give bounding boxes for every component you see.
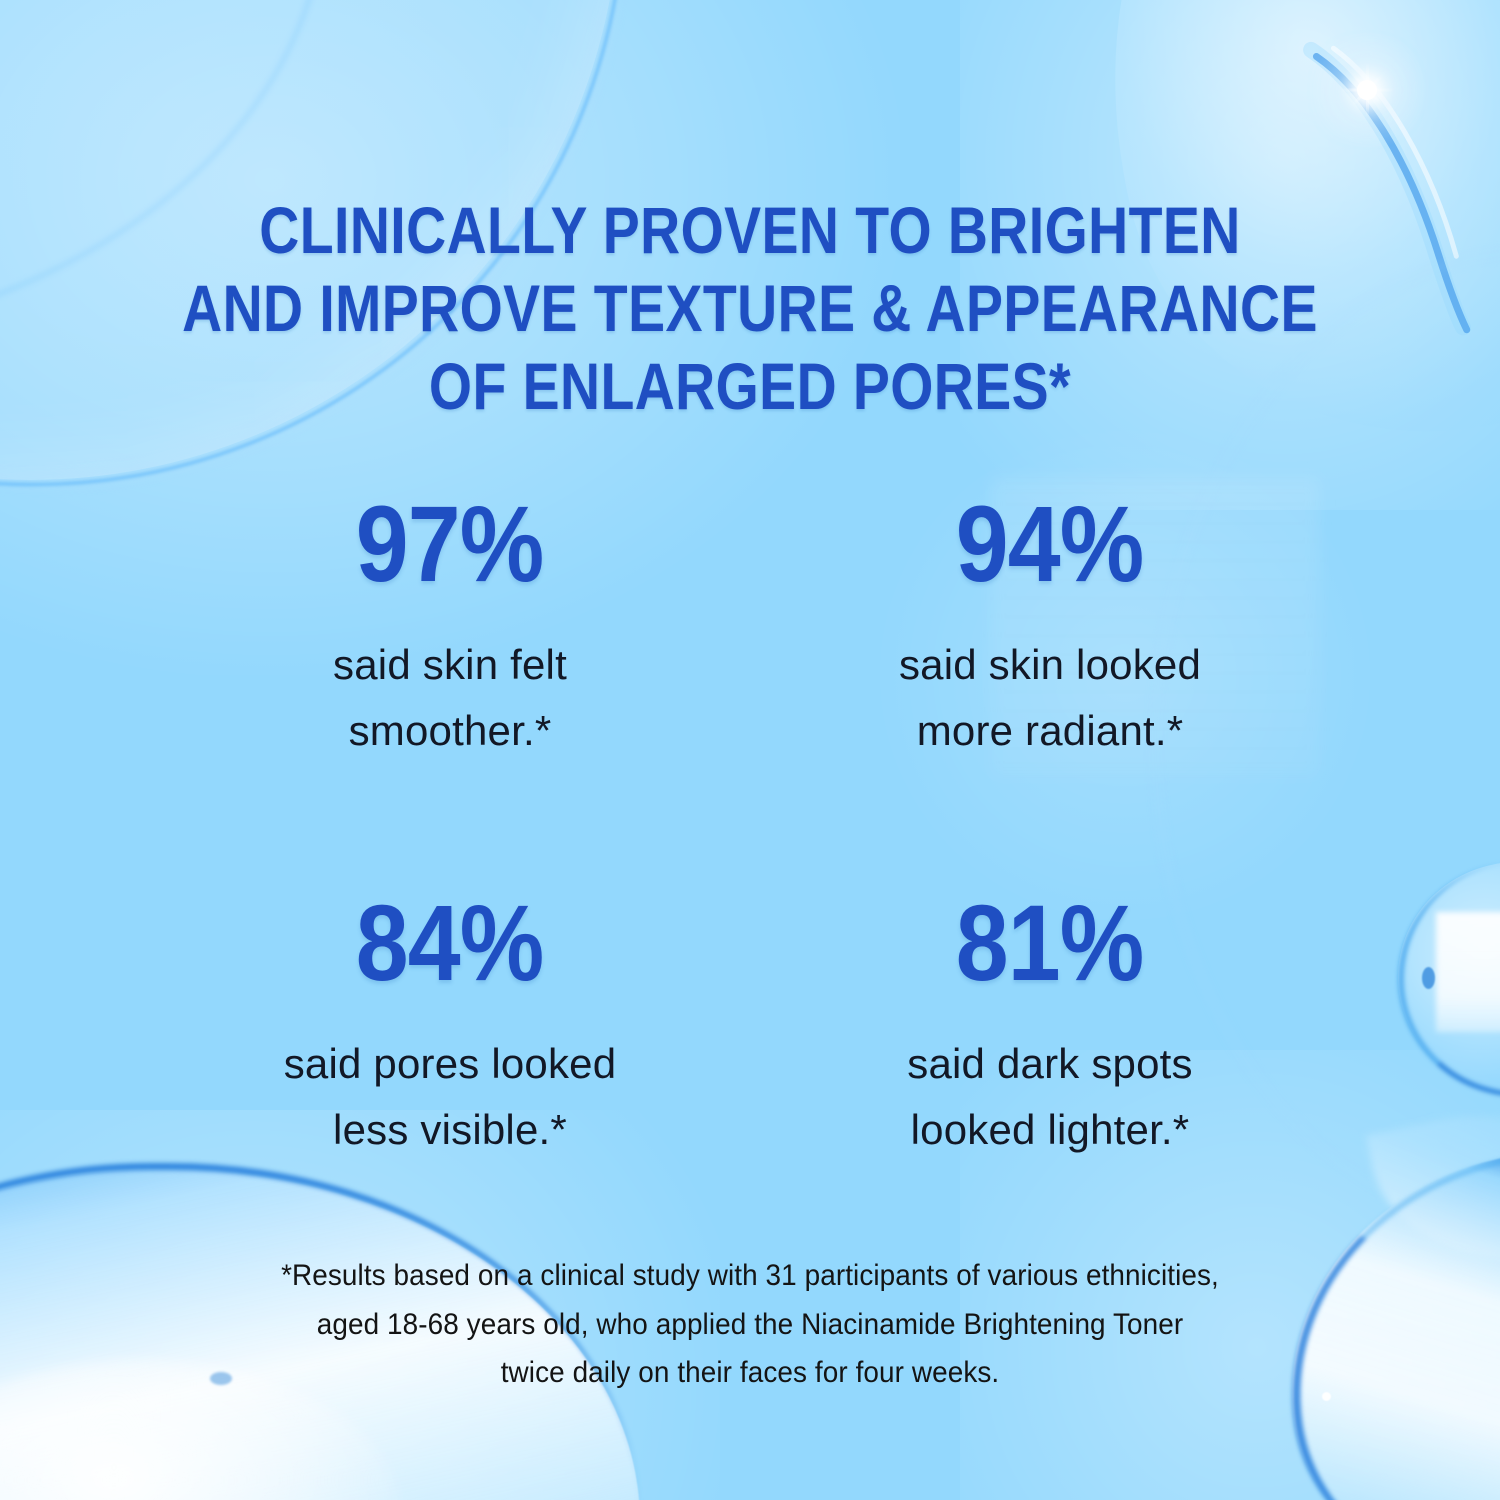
stat-percent: 84% <box>356 889 544 997</box>
stat-label-line-2: looked lighter.* <box>750 1097 1350 1163</box>
headline-line-1: CLINICALLY PROVEN TO BRIGHTEN <box>120 192 1380 270</box>
stat-label-line-2: less visible.* <box>150 1097 750 1163</box>
headline-line-3: OF ENLARGED PORES* <box>120 348 1380 426</box>
stat-label-line-1: said dark spots <box>750 1031 1350 1097</box>
stat-label: said skin felt smoother.* <box>150 632 750 765</box>
headline-line-2: AND IMPROVE TEXTURE & APPEARANCE <box>120 270 1380 348</box>
footnote-line-2: aged 18-68 years old, who applied the Ni… <box>53 1301 1448 1350</box>
stat-percent: 97% <box>356 490 544 598</box>
promo-graphic: CLINICALLY PROVEN TO BRIGHTEN AND IMPROV… <box>0 0 1500 1500</box>
content-layer: CLINICALLY PROVEN TO BRIGHTEN AND IMPROV… <box>0 0 1500 1500</box>
stat-label-line-2: smoother.* <box>150 698 750 764</box>
stat-label-line-1: said skin felt <box>150 632 750 698</box>
footnote: *Results based on a clinical study with … <box>53 1252 1448 1398</box>
stat-label-line-2: more radiant.* <box>750 698 1350 764</box>
stat-percent: 94% <box>956 490 1144 598</box>
stat-label-line-1: said skin looked <box>750 632 1350 698</box>
stat-percent: 81% <box>956 889 1144 997</box>
stat-label: said dark spots looked lighter.* <box>750 1031 1350 1164</box>
stat-label-line-1: said pores looked <box>150 1031 750 1097</box>
stat-skin-felt-smoother: 97% said skin felt smoother.* <box>150 490 750 765</box>
stat-label: said pores looked less visible.* <box>150 1031 750 1164</box>
page-title: CLINICALLY PROVEN TO BRIGHTEN AND IMPROV… <box>120 192 1380 426</box>
stat-dark-spots-looked-lighter: 81% said dark spots looked lighter.* <box>750 889 1350 1164</box>
stat-label: said skin looked more radiant.* <box>750 632 1350 765</box>
stat-pores-looked-less-visible: 84% said pores looked less visible.* <box>150 889 750 1164</box>
footnote-line-3: twice daily on their faces for four week… <box>53 1349 1448 1398</box>
stats-grid: 97% said skin felt smoother.* 94% said s… <box>150 490 1350 1163</box>
footnote-line-1: *Results based on a clinical study with … <box>53 1252 1448 1301</box>
stat-skin-looked-more-radiant: 94% said skin looked more radiant.* <box>750 490 1350 765</box>
